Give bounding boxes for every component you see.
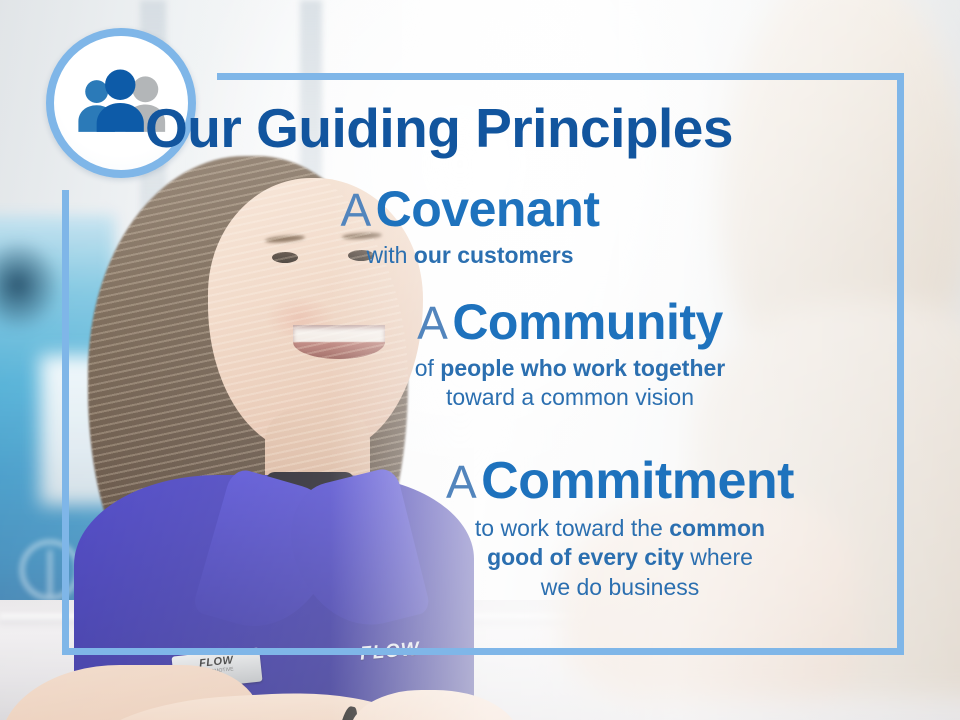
text-content: Our Guiding Principles A Covenant with o… [0, 0, 960, 720]
principle-word: Covenant [376, 181, 600, 237]
principle-word: Commitment [481, 452, 794, 510]
principle-description: of people who work togethertoward a comm… [300, 354, 840, 413]
principle-description: to work toward the commongood of every c… [340, 514, 900, 602]
principle-heading: A Community [300, 297, 840, 348]
banner-graphic: FLOW FLOW AUTOMOTIVE [0, 0, 960, 720]
principle-article: A [446, 456, 477, 508]
principle-community: A Community of people who work togethert… [300, 297, 840, 413]
principle-commitment: A Commitment to work toward the commongo… [340, 455, 900, 602]
principle-heading: A Commitment [340, 455, 900, 508]
principle-article: A [417, 297, 448, 349]
principle-heading: A Covenant [230, 184, 710, 235]
principle-description: with our customers [230, 241, 710, 270]
page-title: Our Guiding Principles [0, 96, 878, 160]
principle-article: A [341, 184, 372, 236]
principle-covenant: A Covenant with our customers [230, 184, 710, 270]
principle-word: Community [452, 294, 723, 350]
